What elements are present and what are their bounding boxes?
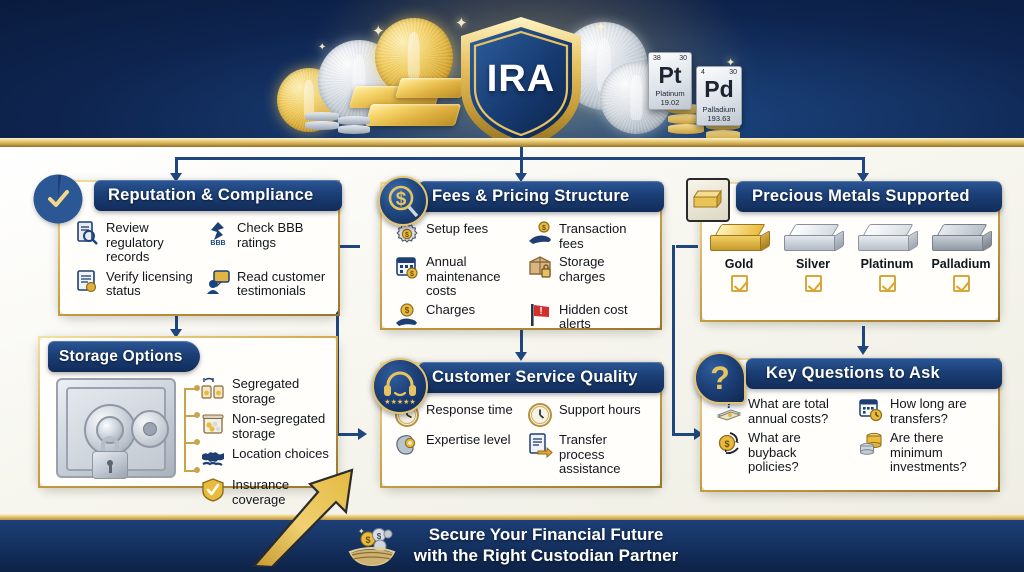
document-magnifier-icon bbox=[74, 220, 100, 246]
list-item-label: Hidden cost alerts bbox=[559, 302, 652, 332]
card-header-questions: Key Questions to Ask bbox=[746, 358, 1002, 389]
list-item-label: Read customer testimonials bbox=[237, 269, 328, 299]
periodic-tile-palladium: 4 30 Pd Palladium 193.63 bbox=[696, 66, 742, 126]
sparkle-icon: ✦ bbox=[372, 22, 385, 40]
list-item[interactable]: $ Transaction fees bbox=[527, 221, 652, 251]
infographic-canvas: ✦ ✦ ✦ ✦ ✦ 38 30 Pt Platinum 19.02 4 30 P… bbox=[0, 0, 1024, 572]
list-item-label: Annual maintenance costs bbox=[426, 254, 519, 299]
gold-bar-icon bbox=[686, 178, 730, 222]
list-item-label: Support hours bbox=[559, 402, 641, 418]
card-reputation-compliance[interactable]: Reputation & Compliance Review regulator… bbox=[58, 180, 340, 316]
footer-line-1: Secure Your Financial Future bbox=[414, 525, 678, 545]
card-header-reputation: Reputation & Compliance bbox=[94, 180, 342, 211]
list-item-label: How long are transfers? bbox=[890, 396, 992, 426]
card-title: Customer Service Quality bbox=[432, 368, 638, 387]
svg-text:!: ! bbox=[539, 306, 542, 317]
transfer-document-icon bbox=[527, 432, 553, 458]
license-certificate-icon bbox=[74, 269, 100, 295]
bbb-ratings-icon: BBB bbox=[205, 220, 231, 246]
list-item[interactable]: Support hours bbox=[527, 402, 652, 428]
customer-testimonial-icon bbox=[205, 269, 231, 295]
svg-text:$: $ bbox=[405, 232, 409, 239]
list-item[interactable]: Are there minimum investments? bbox=[858, 430, 992, 475]
footer-text: Secure Your Financial Future with the Ri… bbox=[414, 525, 678, 566]
card-title: Fees & Pricing Structure bbox=[432, 187, 629, 206]
storage-bullet-tree bbox=[184, 380, 200, 478]
headset-support-icon: ★★★★★ bbox=[372, 358, 428, 414]
storage-box-lock-icon bbox=[527, 254, 553, 280]
element-symbol: Pt bbox=[649, 64, 691, 87]
list-item-label: What are total annual costs? bbox=[748, 396, 850, 426]
metal-label: Palladium bbox=[924, 257, 998, 271]
list-item[interactable]: $ Setup fees bbox=[394, 221, 519, 251]
red-flag-alert-icon: ! bbox=[527, 302, 553, 328]
card-items-reputation: Review regulatory records BBB Check BBB … bbox=[74, 220, 328, 299]
metal-label: Silver bbox=[776, 257, 850, 271]
svg-text:★★★★★: ★★★★★ bbox=[384, 398, 415, 406]
svg-text:$: $ bbox=[410, 271, 414, 278]
ira-logo-text: IRA bbox=[455, 58, 587, 101]
ira-shield-logo: IRA bbox=[455, 14, 587, 140]
metals-row: Gold Silver Platinum bbox=[702, 224, 998, 292]
list-item[interactable]: Verify licensing status bbox=[74, 269, 197, 299]
card-header-metals: Precious Metals Supported bbox=[736, 181, 1002, 212]
header-banner: ✦ ✦ ✦ ✦ ✦ 38 30 Pt Platinum 19.02 4 30 P… bbox=[0, 0, 1024, 140]
list-item[interactable]: Review regulatory records bbox=[74, 220, 197, 265]
metal-checkbox[interactable] bbox=[805, 275, 822, 292]
connector-rail-right-top bbox=[676, 245, 698, 248]
sparkle-icon: ✦ bbox=[596, 20, 606, 34]
padlock-icon bbox=[92, 436, 130, 480]
svg-text:$: $ bbox=[542, 225, 546, 232]
list-item-label: Verify licensing status bbox=[106, 269, 197, 299]
list-item[interactable]: Transfer process assistance bbox=[527, 432, 652, 477]
growth-arrow-icon bbox=[252, 462, 362, 567]
card-items-service: Response time Support hours Expertise le… bbox=[394, 402, 652, 477]
list-item-label: Setup fees bbox=[426, 221, 488, 237]
periodic-tile-platinum: 38 30 Pt Platinum 19.02 bbox=[648, 52, 692, 110]
list-item-label: What are buyback policies? bbox=[748, 430, 850, 475]
list-item-label: Segregated storage bbox=[232, 376, 334, 406]
atomic-number-right: 30 bbox=[729, 69, 737, 76]
card-precious-metals[interactable]: Precious Metals Supported Gold Silver bbox=[700, 182, 1000, 322]
calendar-dollar-icon: $ bbox=[394, 254, 420, 280]
svg-text:BBB: BBB bbox=[210, 240, 225, 246]
non-segregated-storage-icon bbox=[200, 411, 226, 437]
metal-label: Platinum bbox=[850, 257, 924, 271]
metal-label: Gold bbox=[702, 257, 776, 271]
atomic-number-left: 38 bbox=[653, 55, 661, 62]
clock-icon bbox=[527, 402, 553, 428]
element-weight: 19.02 bbox=[649, 98, 691, 107]
card-header-storage: Storage Options bbox=[48, 341, 200, 372]
list-item[interactable]: ! Hidden cost alerts bbox=[527, 302, 652, 332]
silver-stack-d bbox=[338, 125, 370, 134]
footer-gold-divider bbox=[0, 514, 1024, 520]
metal-gold[interactable]: Gold bbox=[702, 224, 776, 292]
world-map-icon bbox=[200, 446, 226, 472]
list-item-label: Location choices bbox=[232, 446, 329, 462]
list-item-label: Review regulatory records bbox=[106, 220, 197, 265]
metal-checkbox[interactable] bbox=[953, 275, 970, 292]
footer-banner: $ $ ✦ Secure Your Financial Future with … bbox=[0, 519, 1024, 572]
list-item-label: Are there minimum investments? bbox=[890, 430, 992, 475]
arrowhead-questions bbox=[857, 346, 869, 355]
metal-platinum[interactable]: Platinum bbox=[850, 224, 924, 292]
card-title: Reputation & Compliance bbox=[108, 186, 313, 205]
list-item-label: Non-segregated storage bbox=[232, 411, 334, 441]
metal-checkbox[interactable] bbox=[731, 275, 748, 292]
svg-text:$: $ bbox=[365, 535, 370, 545]
card-title: Precious Metals Supported bbox=[752, 187, 970, 206]
list-item[interactable]: How long are transfers? bbox=[858, 396, 992, 426]
list-item-label: Transaction fees bbox=[559, 221, 652, 251]
safe-vault-icon bbox=[56, 378, 176, 478]
sparkle-icon: ✦ bbox=[318, 42, 326, 53]
element-name: Palladium bbox=[697, 105, 741, 114]
dollar-magnifier-icon: $ bbox=[378, 176, 428, 226]
hand-coin-icon: $ bbox=[527, 221, 553, 247]
card-title: Key Questions to Ask bbox=[766, 364, 940, 383]
list-item-label: Expertise level bbox=[426, 432, 511, 448]
palladium-ingot-icon bbox=[932, 224, 990, 254]
list-item-label: Transfer process assistance bbox=[559, 432, 652, 477]
list-item[interactable]: Non-segregated storage bbox=[200, 411, 334, 441]
gold-ingot-icon bbox=[710, 224, 768, 254]
connector-rail-right bbox=[672, 245, 675, 435]
card-header-fees: Fees & Pricing Structure bbox=[418, 181, 664, 212]
card-header-service: Customer Service Quality bbox=[418, 362, 664, 393]
svg-text:$: $ bbox=[724, 439, 729, 449]
brain-gear-icon bbox=[394, 432, 420, 458]
connector-storage-to-service bbox=[336, 433, 360, 436]
verified-rosette-icon bbox=[35, 176, 81, 222]
list-item[interactable]: $ Charges bbox=[394, 302, 519, 332]
list-item[interactable]: $ What are buyback policies? bbox=[716, 430, 850, 475]
question-bubble-icon: ? bbox=[694, 352, 746, 404]
silver-stack-b bbox=[305, 121, 339, 130]
list-item-label: Check BBB ratings bbox=[237, 220, 328, 250]
card-items-fees: $ Setup fees $ Transaction fees $ Annual… bbox=[394, 221, 652, 332]
list-item[interactable]: Expertise level bbox=[394, 432, 519, 477]
svg-text:$: $ bbox=[405, 306, 410, 315]
list-item[interactable]: Segregated storage bbox=[200, 376, 334, 406]
arrowhead-service bbox=[515, 352, 527, 361]
platinum-ingot-icon bbox=[858, 224, 916, 254]
atomic-number-left: 4 bbox=[701, 69, 705, 76]
footer-line-2: with the Right Custodian Partner bbox=[414, 546, 678, 566]
metal-silver[interactable]: Silver bbox=[776, 224, 850, 292]
silver-ingot-icon bbox=[784, 224, 842, 254]
card-title: Storage Options bbox=[59, 348, 183, 366]
hand-coin-icon: $ bbox=[394, 302, 420, 328]
atomic-number-right: 30 bbox=[679, 55, 687, 62]
silver-stack-a bbox=[305, 112, 339, 121]
svg-text:$: $ bbox=[396, 189, 407, 210]
buyback-cycle-icon: $ bbox=[716, 430, 742, 456]
metal-checkbox[interactable] bbox=[879, 275, 896, 292]
calendar-clock-icon bbox=[858, 396, 884, 422]
list-item-label: Charges bbox=[426, 302, 475, 318]
list-item[interactable]: $ Annual maintenance costs bbox=[394, 254, 519, 299]
list-item-label: Response time bbox=[426, 402, 513, 418]
header-gold-divider bbox=[0, 138, 1024, 147]
element-weight: 193.63 bbox=[697, 114, 741, 123]
insurance-shield-icon bbox=[200, 477, 226, 503]
metal-palladium[interactable]: Palladium bbox=[924, 224, 998, 292]
list-item[interactable]: Read customer testimonials bbox=[205, 269, 328, 299]
list-item[interactable]: BBB Check BBB ratings bbox=[205, 220, 328, 265]
list-item-label: Storage charges bbox=[559, 254, 652, 284]
element-symbol: Pd bbox=[697, 78, 741, 101]
element-name: Platinum bbox=[649, 89, 691, 98]
card-items-questions: ? What are total annual costs? How long … bbox=[716, 396, 992, 475]
segregated-storage-icon bbox=[200, 376, 226, 402]
silver-stack-c bbox=[338, 116, 370, 125]
arrowhead-right-service bbox=[358, 428, 367, 440]
gold-bar-2 bbox=[365, 104, 461, 126]
coin-stack-icon bbox=[858, 430, 884, 456]
list-item[interactable]: Storage charges bbox=[527, 254, 652, 299]
connector-service-to-questions bbox=[672, 433, 696, 436]
